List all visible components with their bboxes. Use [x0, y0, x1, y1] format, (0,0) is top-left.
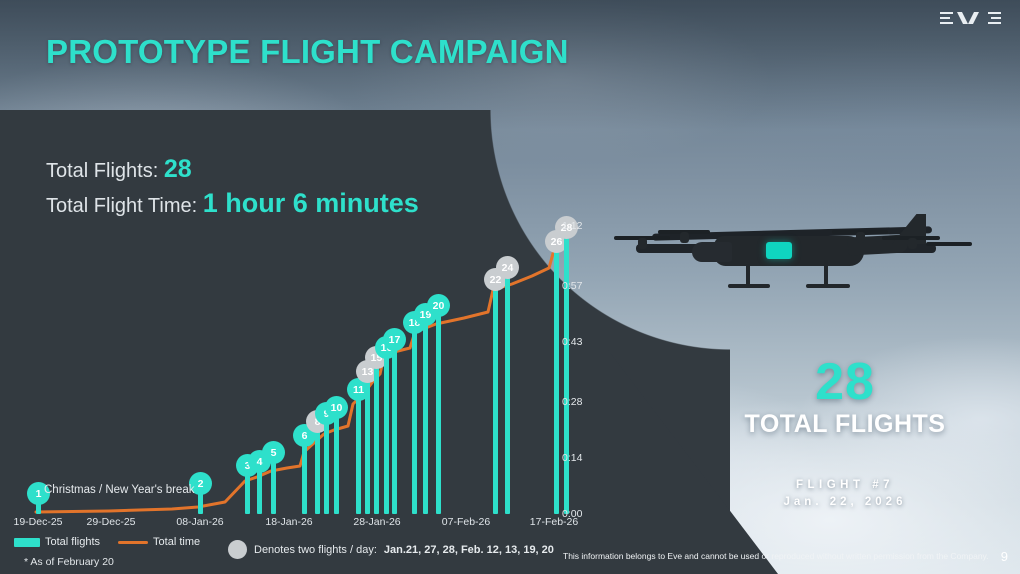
chart-bar-marker: 5 [262, 441, 285, 464]
total-flight-time-label: Total Flight Time: [46, 195, 197, 217]
chart-y-tick: 0:28 [562, 396, 582, 408]
chart-y-tick: 0:43 [562, 336, 582, 348]
chart-bar [334, 414, 339, 514]
chart-bar [392, 346, 397, 514]
chart-bar [384, 354, 389, 514]
legend-item-total-flights: Total flights [14, 536, 100, 548]
chart-x-tick: 08-Jan-26 [176, 516, 223, 528]
chart-x-axis: 19-Dec-2529-Dec-2508-Jan-2618-Jan-2628-J… [0, 516, 600, 536]
chart-y-tick: 1:12 [562, 220, 582, 232]
chart-bar [324, 420, 329, 514]
chart-plot-area: 1234568910111315161718192022242628 [12, 226, 557, 514]
eve-logo [940, 10, 1002, 26]
double-flight-footnote: Denotes two flights / day: Jan.21, 27, 2… [228, 540, 554, 559]
latest-flight-number: FLIGHT #7 [610, 479, 1020, 491]
legal-disclaimer: This information belongs to Eve and cann… [563, 551, 989, 561]
page-number: 9 [1001, 549, 1008, 564]
line-swatch-icon [118, 541, 148, 544]
drone-landing-strut-right [824, 260, 828, 286]
chart-x-tick: 18-Jan-26 [265, 516, 312, 528]
as-of-footnote: * As of February 20 [24, 556, 114, 568]
drone-skid-right [806, 284, 850, 288]
chart-bar [554, 248, 559, 514]
chart-x-tick: 28-Jan-26 [353, 516, 400, 528]
legend-label-total-flights: Total flights [45, 536, 100, 548]
chart-bar-marker: 10 [325, 396, 348, 419]
gray-marker-icon [228, 540, 247, 559]
drone-teal-livery-panel [766, 242, 792, 259]
legend-item-total-time: Total time [118, 536, 200, 548]
chart-bar [493, 286, 498, 514]
total-time-line-series [12, 226, 557, 514]
chart-legend: Total flights Total time [14, 536, 200, 548]
total-flight-time-value: 1 hour 6 minutes [203, 188, 419, 218]
bar-swatch-icon [14, 538, 40, 547]
chart-bar-marker: 20 [427, 294, 450, 317]
chart-y-tick: 0:57 [562, 280, 582, 292]
chart-bar [365, 378, 370, 514]
chart-bar [374, 364, 379, 514]
drone-rotor-5 [926, 242, 972, 246]
chart-bar [436, 312, 441, 514]
chart-bar [302, 442, 307, 514]
total-flights-stat: Total Flights: 28 [46, 155, 192, 184]
hero-flight-count: 28 [610, 352, 1020, 412]
page-title: PROTOTYPE FLIGHT CAMPAIGN [46, 33, 569, 71]
chart-bar [423, 321, 428, 514]
christmas-break-annotation: Christmas / New Year's break [44, 484, 194, 496]
chart-x-tick: 07-Feb-26 [442, 516, 490, 528]
hero-flight-caption: TOTAL FLIGHTS [610, 410, 1020, 439]
slide: PROTOTYPE FLIGHT CAMPAIGN Total Flights:… [0, 0, 1020, 574]
legend-label-total-time: Total time [153, 536, 200, 548]
chart-x-tick: 19-Dec-25 [13, 516, 62, 528]
chart-y-axis: 0:000:140:280:430:571:12 [562, 222, 602, 522]
chart-bar [356, 396, 361, 514]
total-flight-time-stat: Total Flight Time: 1 hour 6 minutes [46, 188, 419, 219]
chart-bar [245, 472, 250, 514]
chart-y-tick: 0:14 [562, 452, 582, 464]
latest-flight-date: Jan. 22, 2026 [610, 496, 1020, 508]
total-flights-value: 28 [164, 155, 192, 183]
chart-bar [315, 428, 320, 514]
double-flight-footnote-dates: Jan.21, 27, 28, Feb. 12, 13, 19, 20 [384, 544, 554, 556]
chart-bar-marker: 24 [496, 256, 519, 279]
flight-campaign-chart: 1234568910111315161718192022242628 Chris… [0, 222, 600, 574]
chart-x-tick: 17-Feb-26 [530, 516, 578, 528]
chart-bar [505, 274, 510, 514]
total-time-line-path [36, 246, 564, 512]
chart-bar [412, 329, 417, 514]
total-flights-label: Total Flights: [46, 160, 158, 182]
chart-bar [257, 468, 262, 514]
drone-landing-strut-left [746, 264, 750, 286]
drone-rotor-hub-3 [856, 232, 865, 243]
chart-bar-marker: 17 [383, 328, 406, 351]
double-flight-footnote-prefix: Denotes two flights / day: [254, 544, 377, 556]
drone-rotor-hub-4 [908, 238, 917, 249]
chart-x-tick: 29-Dec-25 [86, 516, 135, 528]
drone-skid-left [728, 284, 770, 288]
chart-bar [271, 459, 276, 514]
